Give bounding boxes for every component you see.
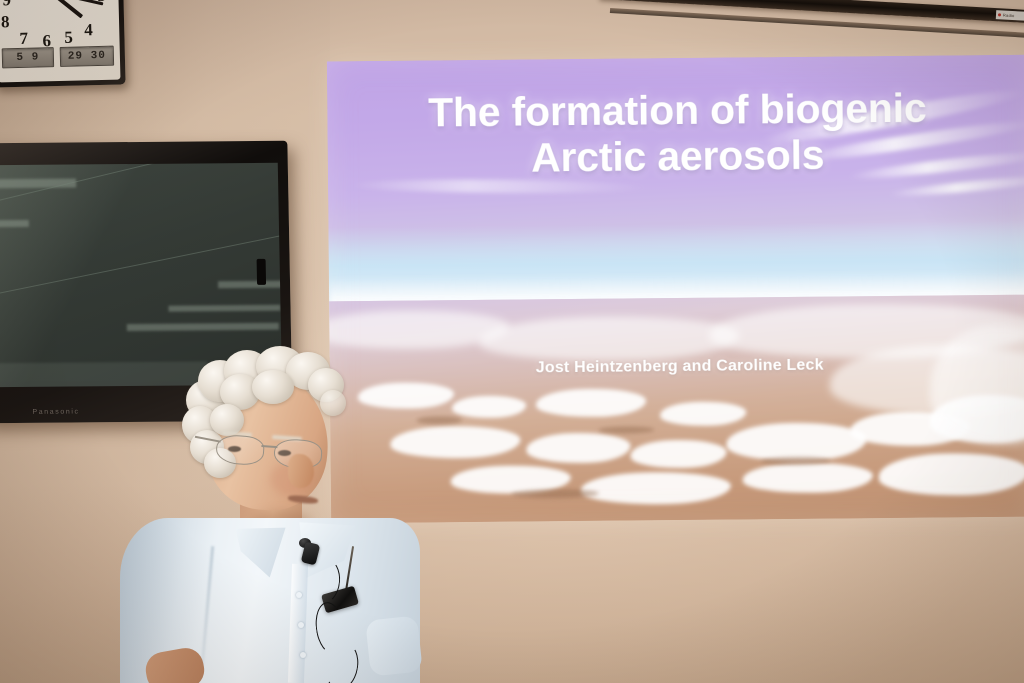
ceiling-track-label: Radio [996, 10, 1024, 21]
clock-hour-hand [51, 0, 83, 18]
clock-numeral-8: 8 [1, 12, 10, 32]
tv-reflection [218, 281, 282, 289]
label-dot-icon [998, 13, 1001, 16]
tv-brand-label: Panasonic [32, 408, 79, 415]
slide-ice-floe [879, 453, 1024, 496]
clock-numeral-9: 9 [2, 0, 11, 10]
tv-reflection [168, 305, 280, 312]
slide-title-line-2: Arctic aerosols [348, 131, 1008, 183]
clock-numeral-4: 4 [84, 20, 93, 40]
presenter-nose [288, 454, 314, 488]
presenter [120, 350, 440, 683]
wall-clock: 9 8 7 6 5 4 3 5 9 29 30 [0, 0, 126, 88]
clock-numeral-7: 7 [19, 29, 28, 49]
clock-lcd-right: 29 30 [60, 46, 114, 67]
glasses-lens-left [215, 434, 265, 466]
clock-lcd-left: 5 9 [2, 47, 54, 68]
clock-face: 9 8 7 6 5 4 3 5 9 29 30 [0, 0, 120, 82]
shirt-sleeve-cuff [365, 615, 423, 676]
slide-title: The formation of biogenic Arctic aerosol… [327, 85, 1024, 184]
slide-title-line-1: The formation of biogenic [347, 85, 1007, 137]
shirt-button [298, 622, 304, 628]
tv-sensor-icon [257, 259, 266, 285]
label-text: Radio [1003, 13, 1015, 19]
tv-reflection [0, 220, 29, 227]
tv-reflection [127, 323, 279, 331]
clock-numeral-5: 5 [64, 28, 73, 48]
shirt-button [296, 592, 302, 598]
hair-curl [320, 390, 346, 416]
shirt-button [300, 652, 306, 658]
photo-scene: Radio 9 8 7 6 5 4 3 5 9 29 30 [0, 0, 1024, 683]
hair-curl [252, 370, 294, 404]
